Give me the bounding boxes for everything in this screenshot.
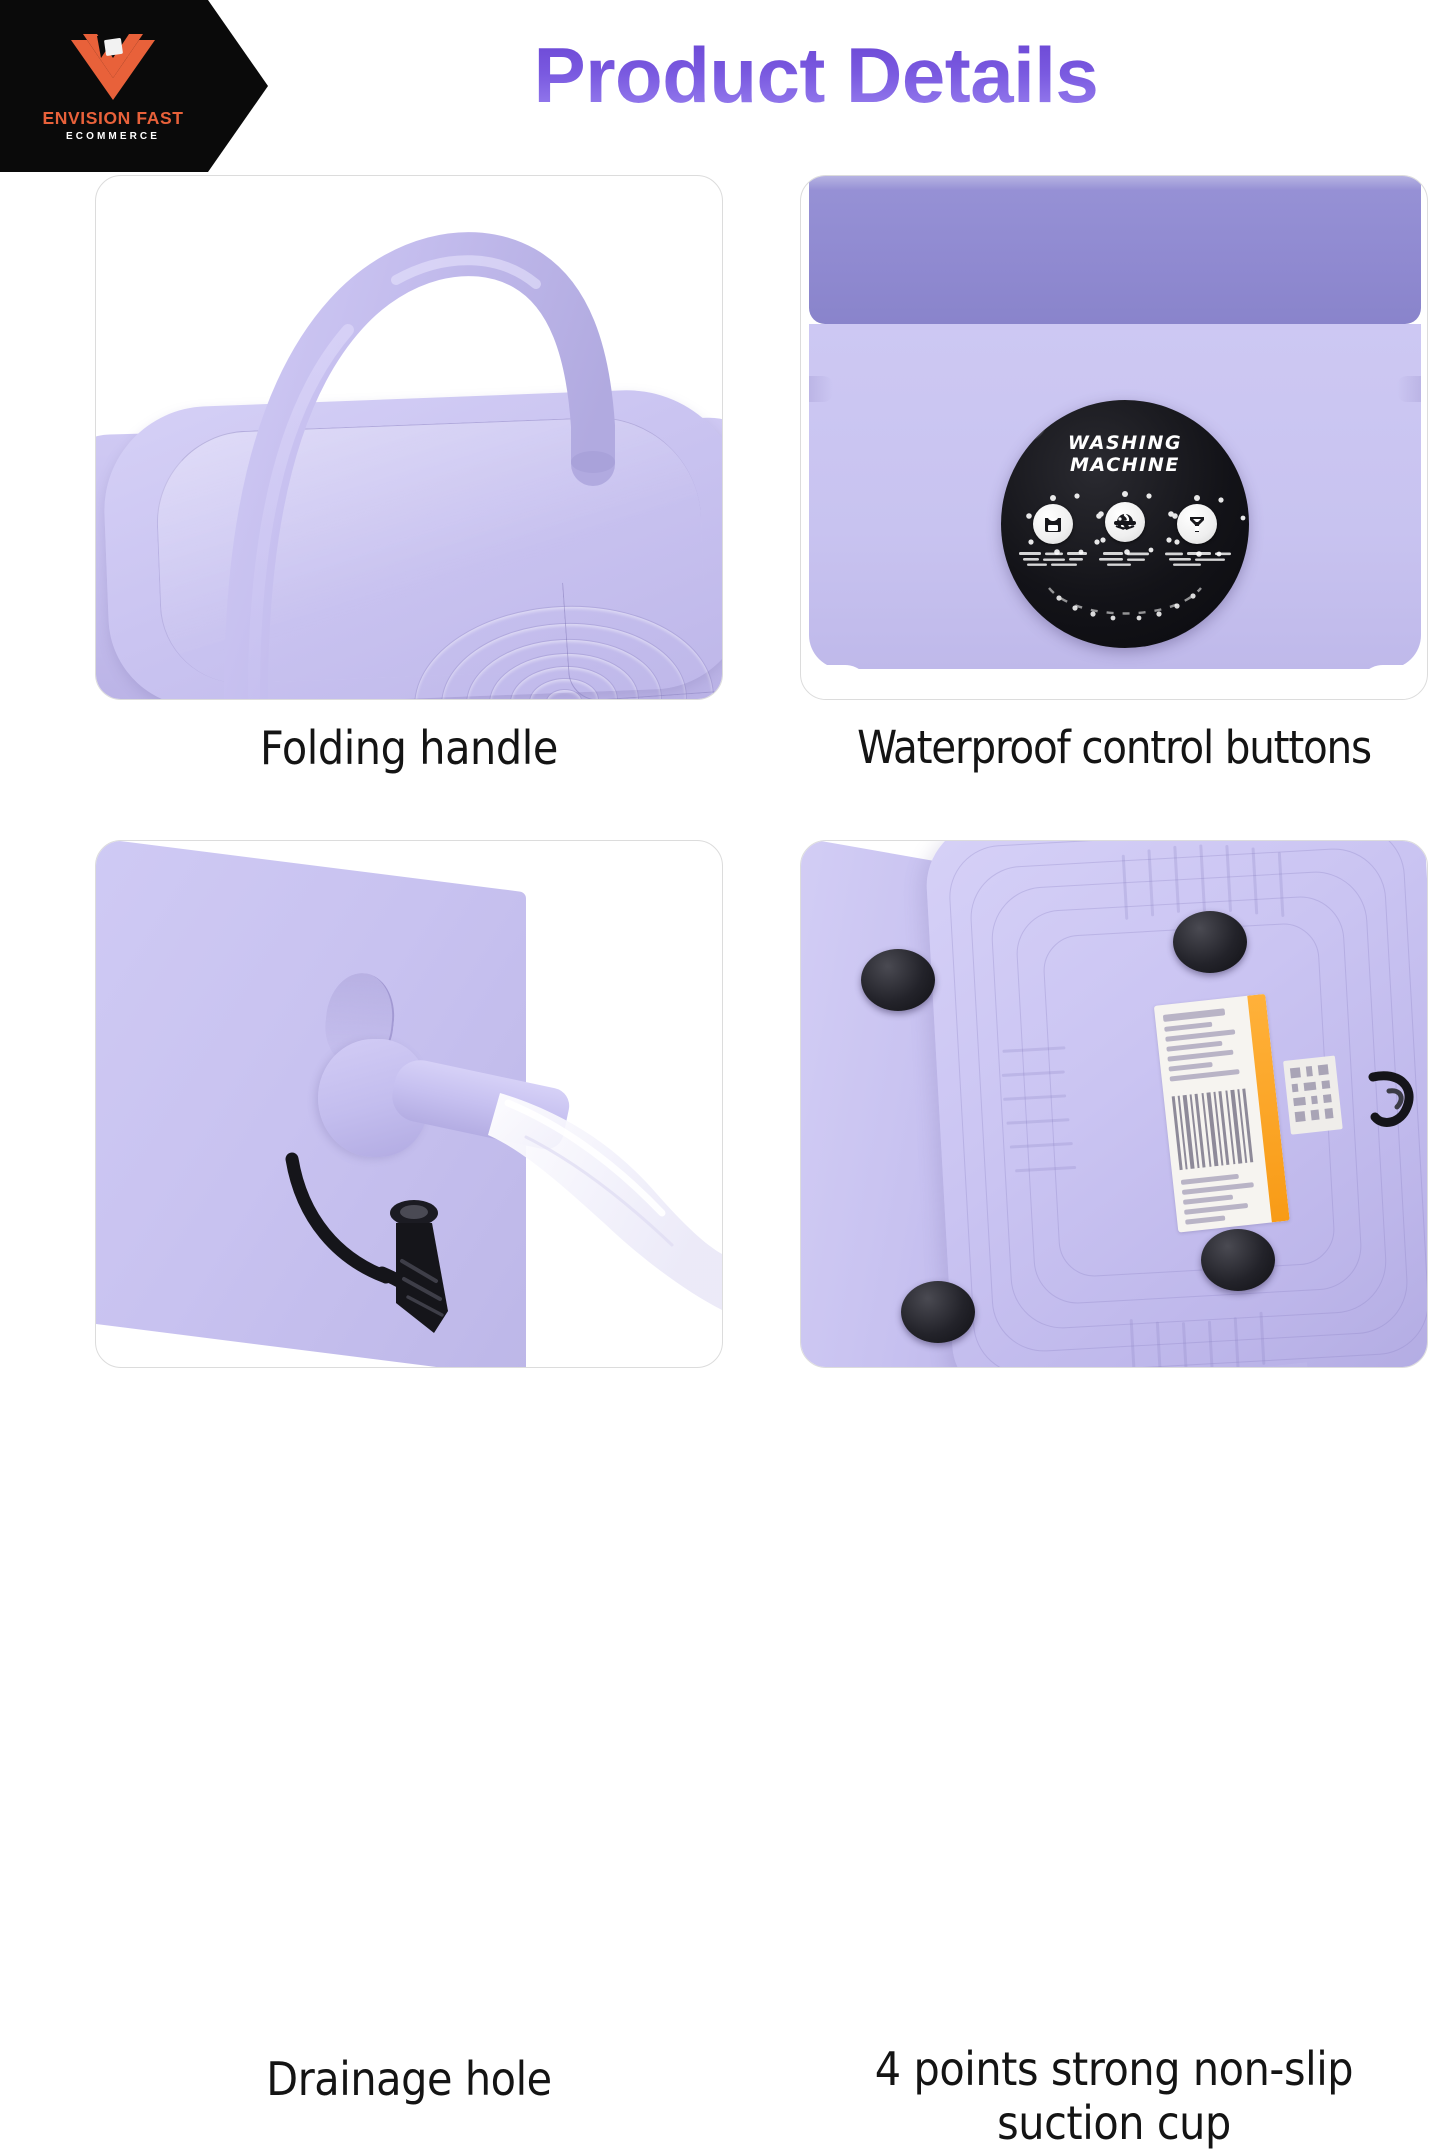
page-header: ENVISION FAST ECOMMERCE Product Details <box>0 0 1436 172</box>
machine-lid-band <box>809 176 1421 324</box>
caption-suction-cup-line-2: suction cup <box>800 2096 1428 2150</box>
caption-suction-cup-line-1: 4 points strong non-slip <box>800 2042 1428 2096</box>
folding-handle-icon <box>96 176 723 700</box>
panel-waterproof-control-buttons: WASHING MACHINE <box>800 175 1428 700</box>
envision-chevron-logo-icon <box>67 30 159 104</box>
panel-drainage-hole: Drainage hole <box>95 840 723 1368</box>
caption-waterproof-control-buttons: Waterproof control buttons <box>800 721 1428 774</box>
button-label-1 <box>1017 550 1091 568</box>
black-drain-plug-clip-icon <box>96 841 723 1368</box>
suction-cup-bottom-right <box>1201 1229 1275 1291</box>
panel-folding-handle: Folding handle <box>95 175 723 700</box>
page-title: Product Details <box>268 34 1436 117</box>
photo-control-buttons: WASHING MACHINE <box>800 175 1428 700</box>
drain-icon[interactable] <box>1177 504 1217 544</box>
button-label-2 <box>1089 550 1163 568</box>
machine-underside <box>923 840 1428 1368</box>
caption-suction-cup: 4 points strong non-slip suction cup <box>800 2042 1428 2151</box>
brand-name: ENVISION FAST <box>42 110 183 128</box>
machine-foot-right <box>1357 665 1419 699</box>
product-detail-grid: Folding handle WASHING MACHINE <box>0 172 1436 1500</box>
photo-drainage-hole <box>95 840 723 1368</box>
control-dial[interactable]: WASHING MACHINE <box>1001 400 1249 648</box>
suction-cup-top-left <box>861 949 935 1011</box>
wash-mode-icon[interactable] <box>1033 504 1073 544</box>
caption-drainage-hole: Drainage hole <box>95 2052 723 2106</box>
suction-cup-bottom-left <box>901 1281 975 1343</box>
machine-foot-left <box>809 665 871 699</box>
brand-banner: ENVISION FAST ECOMMERCE <box>0 0 268 172</box>
suction-cup-top-right <box>1173 911 1247 973</box>
panel-suction-cup: 4 points strong non-slip suction cup <box>800 840 1428 1368</box>
brand-subtitle: ECOMMERCE <box>66 132 160 142</box>
caption-folding-handle: Folding handle <box>95 721 723 775</box>
lid-highlight <box>809 176 1421 190</box>
qr-code-sticker <box>1283 1055 1343 1134</box>
photo-folding-handle <box>95 175 723 700</box>
black-hose-clip-icon <box>1363 1065 1419 1141</box>
photo-suction-cups <box>800 840 1428 1368</box>
button-label-3 <box>1161 550 1235 568</box>
